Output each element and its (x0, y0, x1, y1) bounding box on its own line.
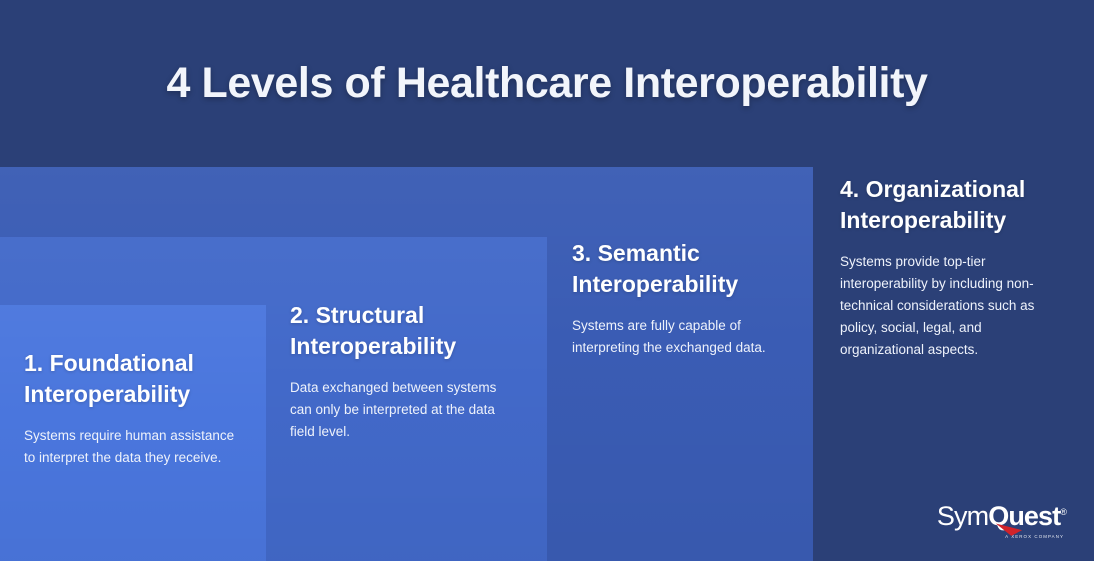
level-3-body: Systems are fully capable of interpretin… (572, 315, 802, 359)
symquest-logo: SymQuest® A XEROX COMPANY (937, 503, 1066, 539)
level-column-1: 1. Foundational Interoperability Systems… (24, 348, 244, 469)
level-column-2: 2. Structural Interoperability Data exch… (290, 300, 518, 443)
logo-text-quest: Quest (988, 501, 1060, 531)
level-4-heading: 4. Organizational Interoperability (840, 174, 1066, 235)
logo-wordmark: SymQuest® (937, 503, 1066, 530)
level-4-body: Systems provide top-tier interoperabilit… (840, 251, 1066, 361)
logo-text-sym: Sym (937, 501, 988, 531)
level-column-4: 4. Organizational Interoperability Syste… (840, 174, 1066, 361)
level-1-heading: 1. Foundational Interoperability (24, 348, 244, 409)
registered-trademark-icon: ® (1060, 507, 1066, 517)
logo-tagline: A XEROX COMPANY (937, 535, 1064, 539)
level-2-body: Data exchanged between systems can only … (290, 377, 518, 443)
level-2-heading: 2. Structural Interoperability (290, 300, 518, 361)
level-1-body: Systems require human assistance to inte… (24, 425, 244, 469)
level-3-heading: 3. Semantic Interoperability (572, 238, 802, 299)
level-column-3: 3. Semantic Interoperability Systems are… (572, 238, 802, 359)
infographic-canvas: 4 Levels of Healthcare Interoperability … (0, 0, 1094, 561)
